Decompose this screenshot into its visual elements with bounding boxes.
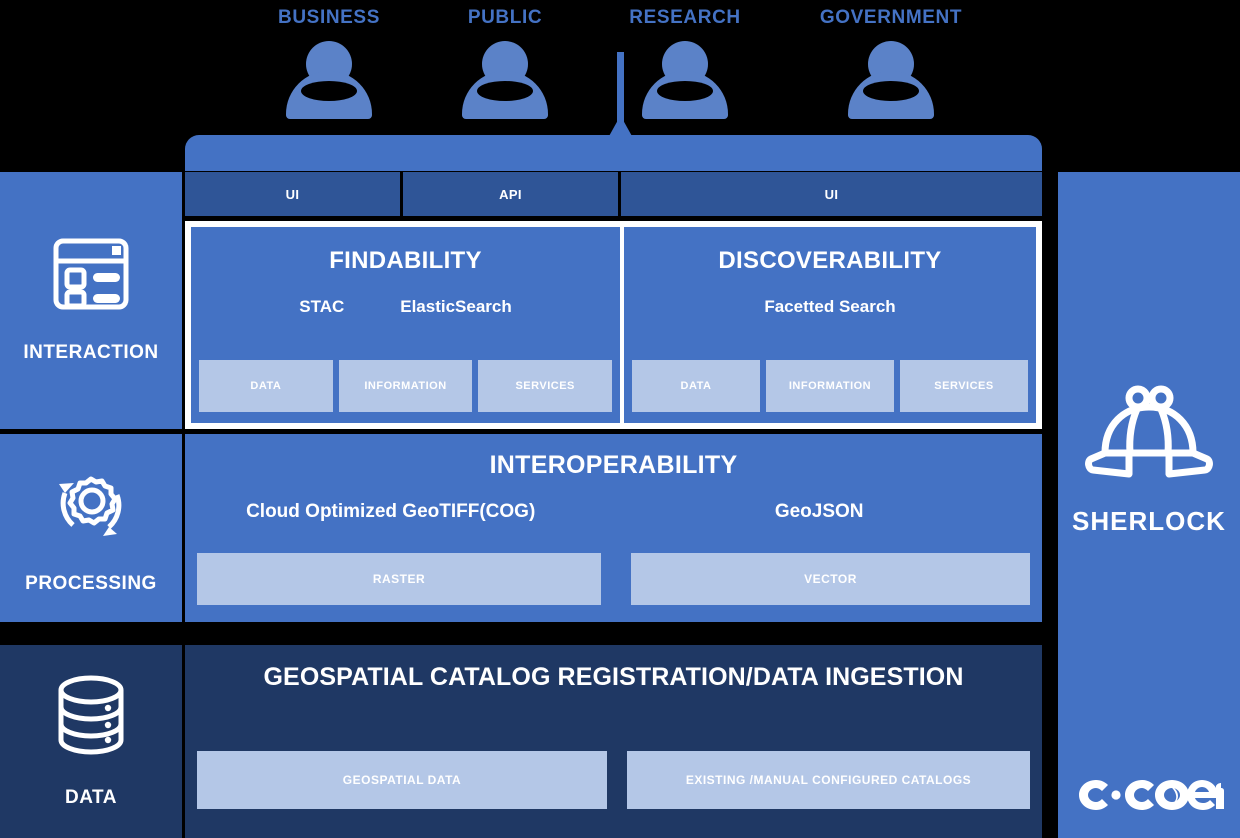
sidebar-label-processing: PROCESSING: [25, 573, 157, 595]
interaction-layer: FINDABILITY STAC ElasticSearch DATA INFO…: [185, 221, 1042, 429]
interoperability-title: INTEROPERABILITY: [490, 451, 738, 480]
findability-technologies: STAC ElasticSearch: [191, 297, 620, 317]
person-neck-gap: [657, 81, 713, 101]
findability-panel: FINDABILITY STAC ElasticSearch DATA INFO…: [191, 227, 620, 423]
persona-label: RESEARCH: [610, 8, 760, 27]
format-cog: Cloud Optimized GeoTIFF(COG): [185, 501, 596, 523]
chip-services: SERVICES: [478, 360, 612, 412]
company-logo-area: [1058, 750, 1240, 838]
discoverability-panel: DISCOVERABILITY Facetted Search DATA INF…: [624, 227, 1036, 423]
tab-label: UI: [286, 187, 300, 202]
persona-research: RESEARCH: [610, 8, 760, 119]
data-ingestion-panel: GEOSPATIAL CATALOG REGISTRATION/DATA ING…: [185, 645, 1042, 838]
chip-raster: RASTER: [197, 553, 601, 605]
tab-ui-right[interactable]: UI: [621, 172, 1042, 216]
product-name: SHERLOCK: [1072, 506, 1226, 537]
chip-vector: VECTOR: [631, 553, 1030, 605]
person-icon: [430, 41, 580, 119]
sidebar-label-data: DATA: [65, 787, 117, 809]
data-ingestion-chips: GEOSPATIAL DATA EXISTING /MANUAL CONFIGU…: [197, 751, 1030, 809]
person-neck-gap: [863, 81, 919, 101]
sidebar-data: DATA: [0, 645, 182, 838]
tech-facetted-search: Facetted Search: [764, 297, 895, 317]
tab-ui-left[interactable]: UI: [185, 172, 403, 216]
platform-top-bar: [185, 135, 1042, 171]
format-geojson: GeoJSON: [596, 501, 1042, 523]
gear-refresh-icon: [51, 462, 131, 547]
architecture-diagram: BUSINESS PUBLIC RESEARCH GOVERNMENT: [0, 0, 1240, 838]
person-neck-gap: [301, 81, 357, 101]
data-ingestion-title: GEOSPATIAL CATALOG REGISTRATION/DATA ING…: [264, 663, 964, 692]
sidebar-sherlock-brand: SHERLOCK: [1058, 172, 1240, 750]
database-icon: [55, 674, 127, 761]
tab-label: API: [499, 187, 522, 202]
deerstalker-hat-icon: [1085, 385, 1213, 488]
chip-existing-catalogs: EXISTING /MANUAL CONFIGURED CATALOGS: [627, 751, 1030, 809]
discoverability-chips: DATA INFORMATION SERVICES: [624, 360, 1036, 412]
discoverability-technologies: Facetted Search: [624, 297, 1036, 317]
person-icon: [816, 41, 966, 119]
persona-label: GOVERNMENT: [816, 8, 966, 27]
discoverability-title: DISCOVERABILITY: [718, 247, 941, 275]
tab-api[interactable]: API: [403, 172, 621, 216]
interoperability-panel: INTEROPERABILITY Cloud Optimized GeoTIFF…: [185, 434, 1042, 622]
findability-title: FINDABILITY: [329, 247, 482, 275]
person-icon: [254, 41, 404, 119]
persona-label: BUSINESS: [254, 8, 404, 27]
sidebar-label-interaction: INTERACTION: [23, 342, 158, 364]
tech-elasticsearch: ElasticSearch: [400, 297, 512, 317]
sidebar-processing: PROCESSING: [0, 434, 182, 622]
chip-information: INFORMATION: [339, 360, 473, 412]
chip-information: INFORMATION: [766, 360, 894, 412]
interoperability-chips: RASTER VECTOR: [197, 553, 1030, 605]
persona-public: PUBLIC: [430, 8, 580, 119]
person-neck-gap: [477, 81, 533, 101]
sidebar-interaction: INTERACTION: [0, 172, 182, 429]
chip-data: DATA: [632, 360, 760, 412]
window-list-icon: [52, 237, 130, 316]
c-core-logo: [1074, 771, 1224, 817]
findability-chips: DATA INFORMATION SERVICES: [191, 360, 620, 412]
persona-label: PUBLIC: [430, 8, 580, 27]
access-tabs: UI API UI: [185, 172, 1042, 216]
tech-stac: STAC: [299, 297, 344, 317]
persona-government: GOVERNMENT: [816, 8, 966, 119]
chip-data: DATA: [199, 360, 333, 412]
person-icon: [610, 41, 760, 119]
persona-business: BUSINESS: [254, 8, 404, 119]
chip-services: SERVICES: [900, 360, 1028, 412]
interoperability-formats: Cloud Optimized GeoTIFF(COG) GeoJSON: [185, 501, 1042, 523]
tab-label: UI: [825, 187, 839, 202]
chip-geospatial-data: GEOSPATIAL DATA: [197, 751, 607, 809]
